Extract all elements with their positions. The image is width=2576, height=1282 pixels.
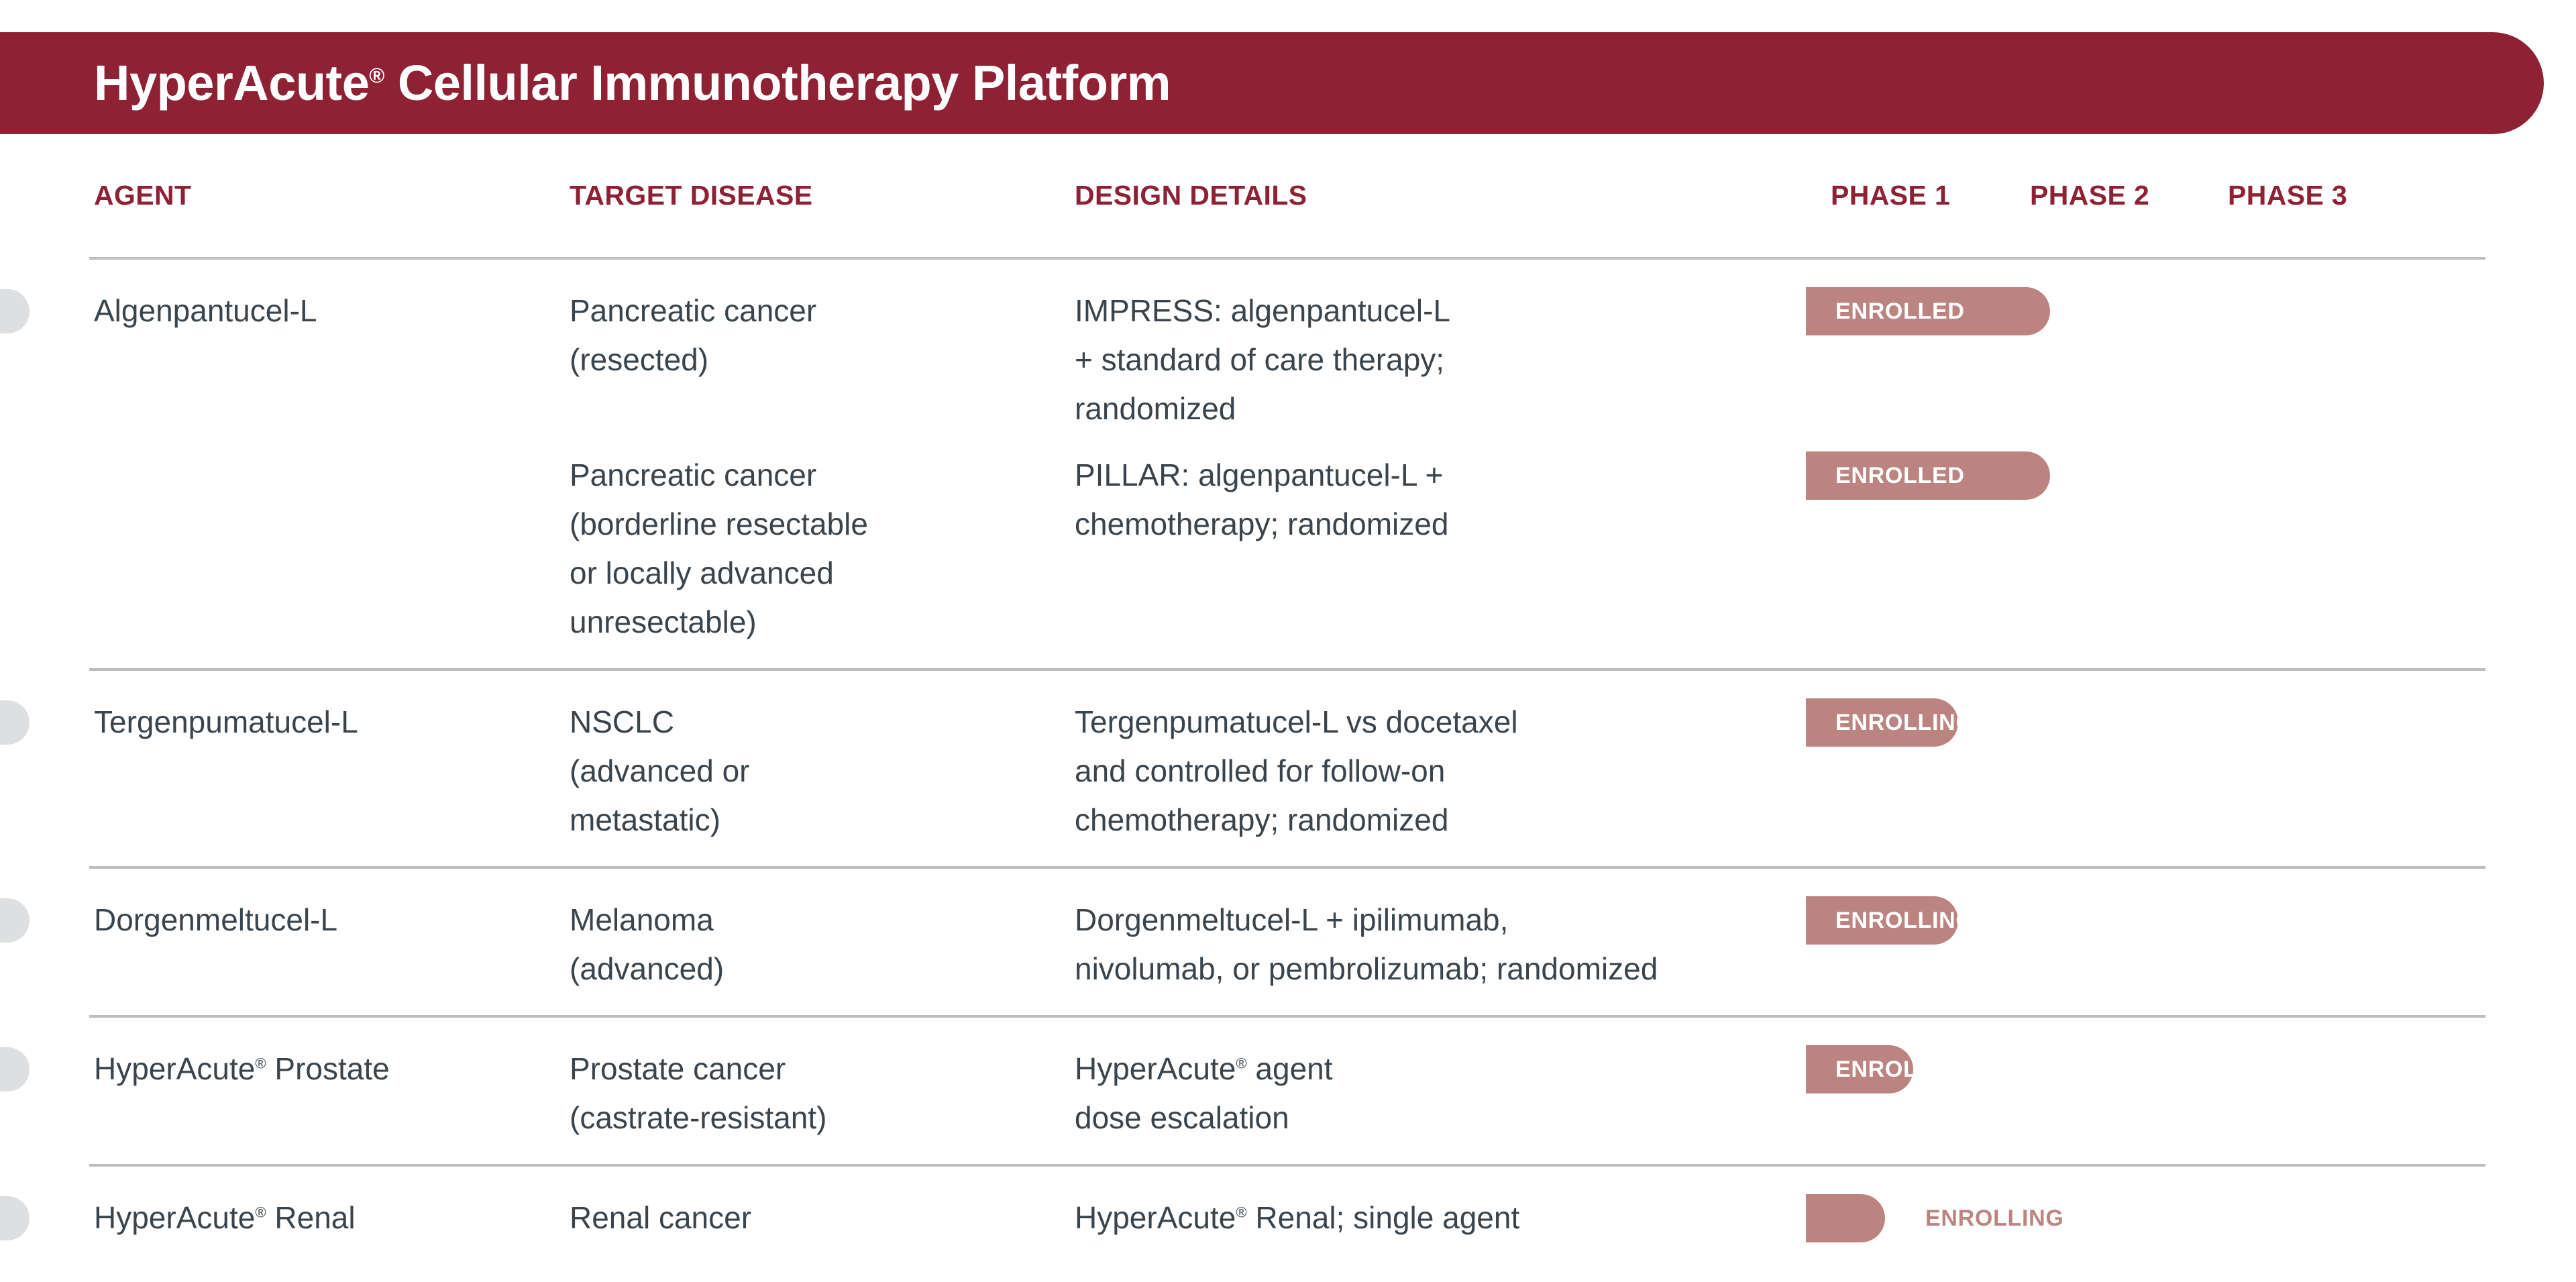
cell-agent: HyperAcute® Prostate (94, 1045, 557, 1093)
phase-progress-bar-container: ENROLLED (1806, 287, 2050, 335)
page-title-rest: Cellular Immunotherapy Platform (384, 55, 1171, 111)
column-header-design-details: DESIGN DETAILS (1075, 180, 1307, 211)
design-details-text: HyperAcute (1075, 1051, 1236, 1086)
rule-inset-right (2485, 866, 2576, 869)
rule-inset-left (0, 1015, 89, 1018)
design-details-text-suffix: Renal; single agent (1247, 1200, 1520, 1235)
cell-target-disease: Renal cancer (570, 1193, 1059, 1242)
column-header-phase-3: PHASE 3 (2228, 180, 2347, 211)
rule-inset-right (2485, 257, 2576, 260)
registered-trademark-icon: ® (1236, 1055, 1246, 1072)
phase-progress-bar[interactable] (1806, 1194, 1885, 1242)
cell-design-details: Tergenpumatucel-L vs docetaxel and contr… (1075, 698, 1806, 845)
rule-inset-right (2485, 668, 2576, 671)
cell-target-disease: Melanoma (advanced) (570, 896, 1059, 994)
cell-target-disease: Pancreatic cancer (borderline resectable… (570, 451, 1059, 647)
table-row: HyperAcute® ProstateProstate cancer (cas… (0, 1015, 2576, 1164)
rule-inset-left (0, 1164, 89, 1167)
rule-inset-left (0, 257, 89, 260)
rule-inset-right (2485, 1164, 2576, 1167)
registered-trademark-icon: ® (255, 1204, 266, 1221)
page-header-banner: HyperAcute® Cellular Immunotherapy Platf… (0, 32, 2544, 134)
phase-progress-bar-container: ENROLLING (1806, 698, 1958, 747)
phase-progress-bar-container: ENROLLING (1806, 896, 1958, 945)
cell-design-details: HyperAcute® agent dose escalation (1075, 1045, 1806, 1142)
phase-progress-bar-container: ENROLLED (1806, 451, 2050, 500)
registered-trademark-icon: ® (369, 64, 384, 87)
design-details-text: Dorgenmeltucel-L + ipilimumab, nivolumab… (1075, 902, 1658, 986)
cell-design-details: PILLAR: algenpantucel-L + chemotherapy; … (1075, 451, 1806, 549)
phase-progress-bar[interactable]: ENROLLING (1806, 698, 1958, 747)
column-header-phase-1: PHASE 1 (1831, 180, 1950, 211)
cell-agent: Tergenpumatucel-L (94, 698, 557, 747)
phase-progress-bar-container: ENROLLED (1806, 1045, 1913, 1093)
cell-design-details: HyperAcute® Renal; single agent (1075, 1193, 1806, 1242)
agent-name: Tergenpumatucel-L (94, 704, 358, 739)
rule-inset-right (2485, 1015, 2576, 1018)
phase-progress-bar[interactable]: ENROLLED (1806, 1045, 1913, 1093)
row-marker-tab-icon (0, 700, 30, 745)
status-badge: ENROLLED (1806, 299, 1965, 325)
agent-name-suffix: Renal (266, 1200, 356, 1235)
table-row: Algenpantucel-LPancreatic cancer (resect… (0, 257, 2576, 668)
rule-inset-left (0, 668, 89, 671)
table-row: HyperAcute® RenalRenal cancerHyperAcute®… (0, 1164, 2576, 1264)
agent-name: HyperAcute (94, 1051, 255, 1086)
phase-progress-bar[interactable]: ENROLLED (1806, 451, 2050, 500)
design-details-text: Tergenpumatucel-L vs docetaxel and contr… (1075, 704, 1518, 837)
row-marker-tab-icon (0, 1047, 30, 1091)
agent-name-suffix: Prostate (266, 1051, 390, 1086)
cell-design-details: Dorgenmeltucel-L + ipilimumab, nivolumab… (1075, 896, 1806, 994)
status-badge: ENROLLING (1806, 710, 1974, 736)
cell-target-disease: NSCLC (advanced or metastatic) (570, 698, 1059, 845)
phase-progress-bar[interactable]: ENROLLING (1806, 896, 1958, 945)
column-header-agent: AGENT (94, 180, 192, 211)
column-header-phase-2: PHASE 2 (2030, 180, 2149, 211)
cell-target-disease: Pancreatic cancer (resected) (570, 286, 1059, 384)
cell-target-disease: Prostate cancer (castrate-resistant) (570, 1045, 1059, 1142)
phase-progress-bar-container: ENROLLING (1806, 1194, 2064, 1242)
cell-agent: Dorgenmeltucel-L (94, 896, 557, 945)
agent-name: HyperAcute (94, 1200, 255, 1235)
phase-progress-bar[interactable]: ENROLLED (1806, 287, 2050, 335)
status-badge: ENROLLED (1806, 1057, 1965, 1083)
status-badge: ENROLLING (1925, 1206, 2064, 1232)
registered-trademark-icon: ® (1236, 1204, 1246, 1221)
cell-agent: Algenpantucel-L (94, 286, 557, 335)
column-header-target-disease: TARGET DISEASE (570, 180, 813, 211)
page-title: HyperAcute® Cellular Immunotherapy Platf… (0, 58, 1171, 108)
status-badge: ENROLLING (1806, 908, 1974, 934)
cell-design-details: IMPRESS: algenpantucel-L + standard of c… (1075, 286, 1806, 433)
agent-name: Dorgenmeltucel-L (94, 902, 337, 937)
pipeline-table: Algenpantucel-LPancreatic cancer (resect… (0, 257, 2576, 1264)
table-row: Dorgenmeltucel-LMelanoma (advanced)Dorge… (0, 866, 2576, 1015)
table-column-headers: AGENT TARGET DISEASE DESIGN DETAILS PHAS… (0, 180, 2576, 227)
table-row: Tergenpumatucel-LNSCLC (advanced or meta… (0, 668, 2576, 866)
design-details-text: HyperAcute (1075, 1200, 1236, 1235)
cell-agent: HyperAcute® Renal (94, 1193, 557, 1242)
rule-inset-left (0, 866, 89, 869)
row-marker-tab-icon (0, 898, 30, 943)
row-marker-tab-icon (0, 1196, 30, 1240)
registered-trademark-icon: ® (255, 1055, 266, 1072)
design-details-text: IMPRESS: algenpantucel-L + standard of c… (1075, 293, 1450, 426)
status-badge: ENROLLED (1806, 463, 1965, 489)
design-details-text: PILLAR: algenpantucel-L + chemotherapy; … (1075, 458, 1448, 541)
agent-name: Algenpantucel-L (94, 293, 317, 328)
row-marker-tab-icon (0, 289, 30, 333)
page-title-main: HyperAcute (94, 55, 369, 111)
